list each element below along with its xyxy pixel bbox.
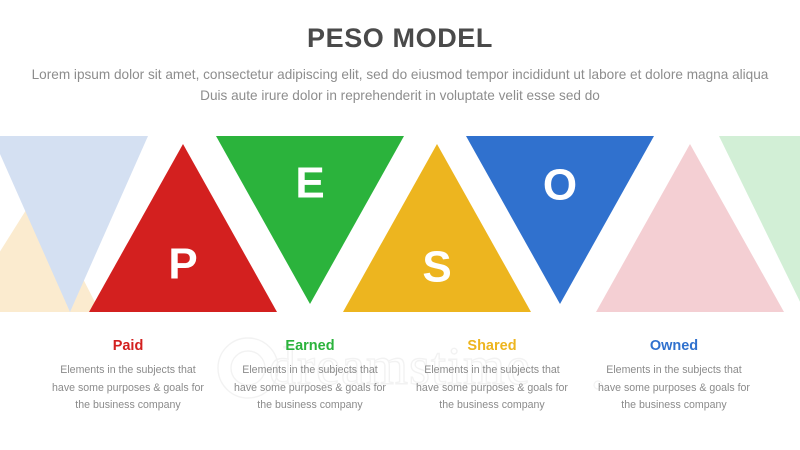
label-description-earned: Elements in the subjects that have some …: [230, 362, 390, 413]
label-title-earned: Earned: [219, 338, 401, 355]
label-title-shared: Shared: [401, 338, 583, 355]
label-description-owned: Elements in the subjects that have some …: [594, 362, 754, 413]
page-title: PESO MODEL: [0, 0, 800, 54]
label-column-earned[interactable]: Earned Elements in the subjects that hav…: [219, 330, 401, 414]
label-description-paid: Elements in the subjects that have some …: [48, 362, 208, 413]
label-title-paid: Paid: [37, 338, 219, 355]
triangle-letter-paid: P: [168, 240, 197, 289]
label-column-shared[interactable]: Shared Elements in the subjects that hav…: [401, 330, 583, 414]
segment-labels: Paid Elements in the subjects that have …: [0, 330, 800, 414]
label-description-shared: Elements in the subjects that have some …: [412, 362, 572, 413]
triangle-letter-owned: O: [543, 161, 577, 210]
label-column-owned[interactable]: Owned Elements in the subjects that have…: [583, 330, 765, 414]
triangle-letter-shared: S: [422, 243, 451, 292]
header: PESO MODEL Lorem ipsum dolor sit amet, c…: [0, 0, 800, 136]
triangle-letter-earned: E: [295, 159, 324, 208]
label-title-owned: Owned: [583, 338, 765, 355]
label-column-paid[interactable]: Paid Elements in the subjects that have …: [37, 330, 219, 414]
page-subtitle: Lorem ipsum dolor sit amet, consectetur …: [27, 54, 773, 106]
triangle-band: P E S O dreamstime: [0, 136, 800, 312]
